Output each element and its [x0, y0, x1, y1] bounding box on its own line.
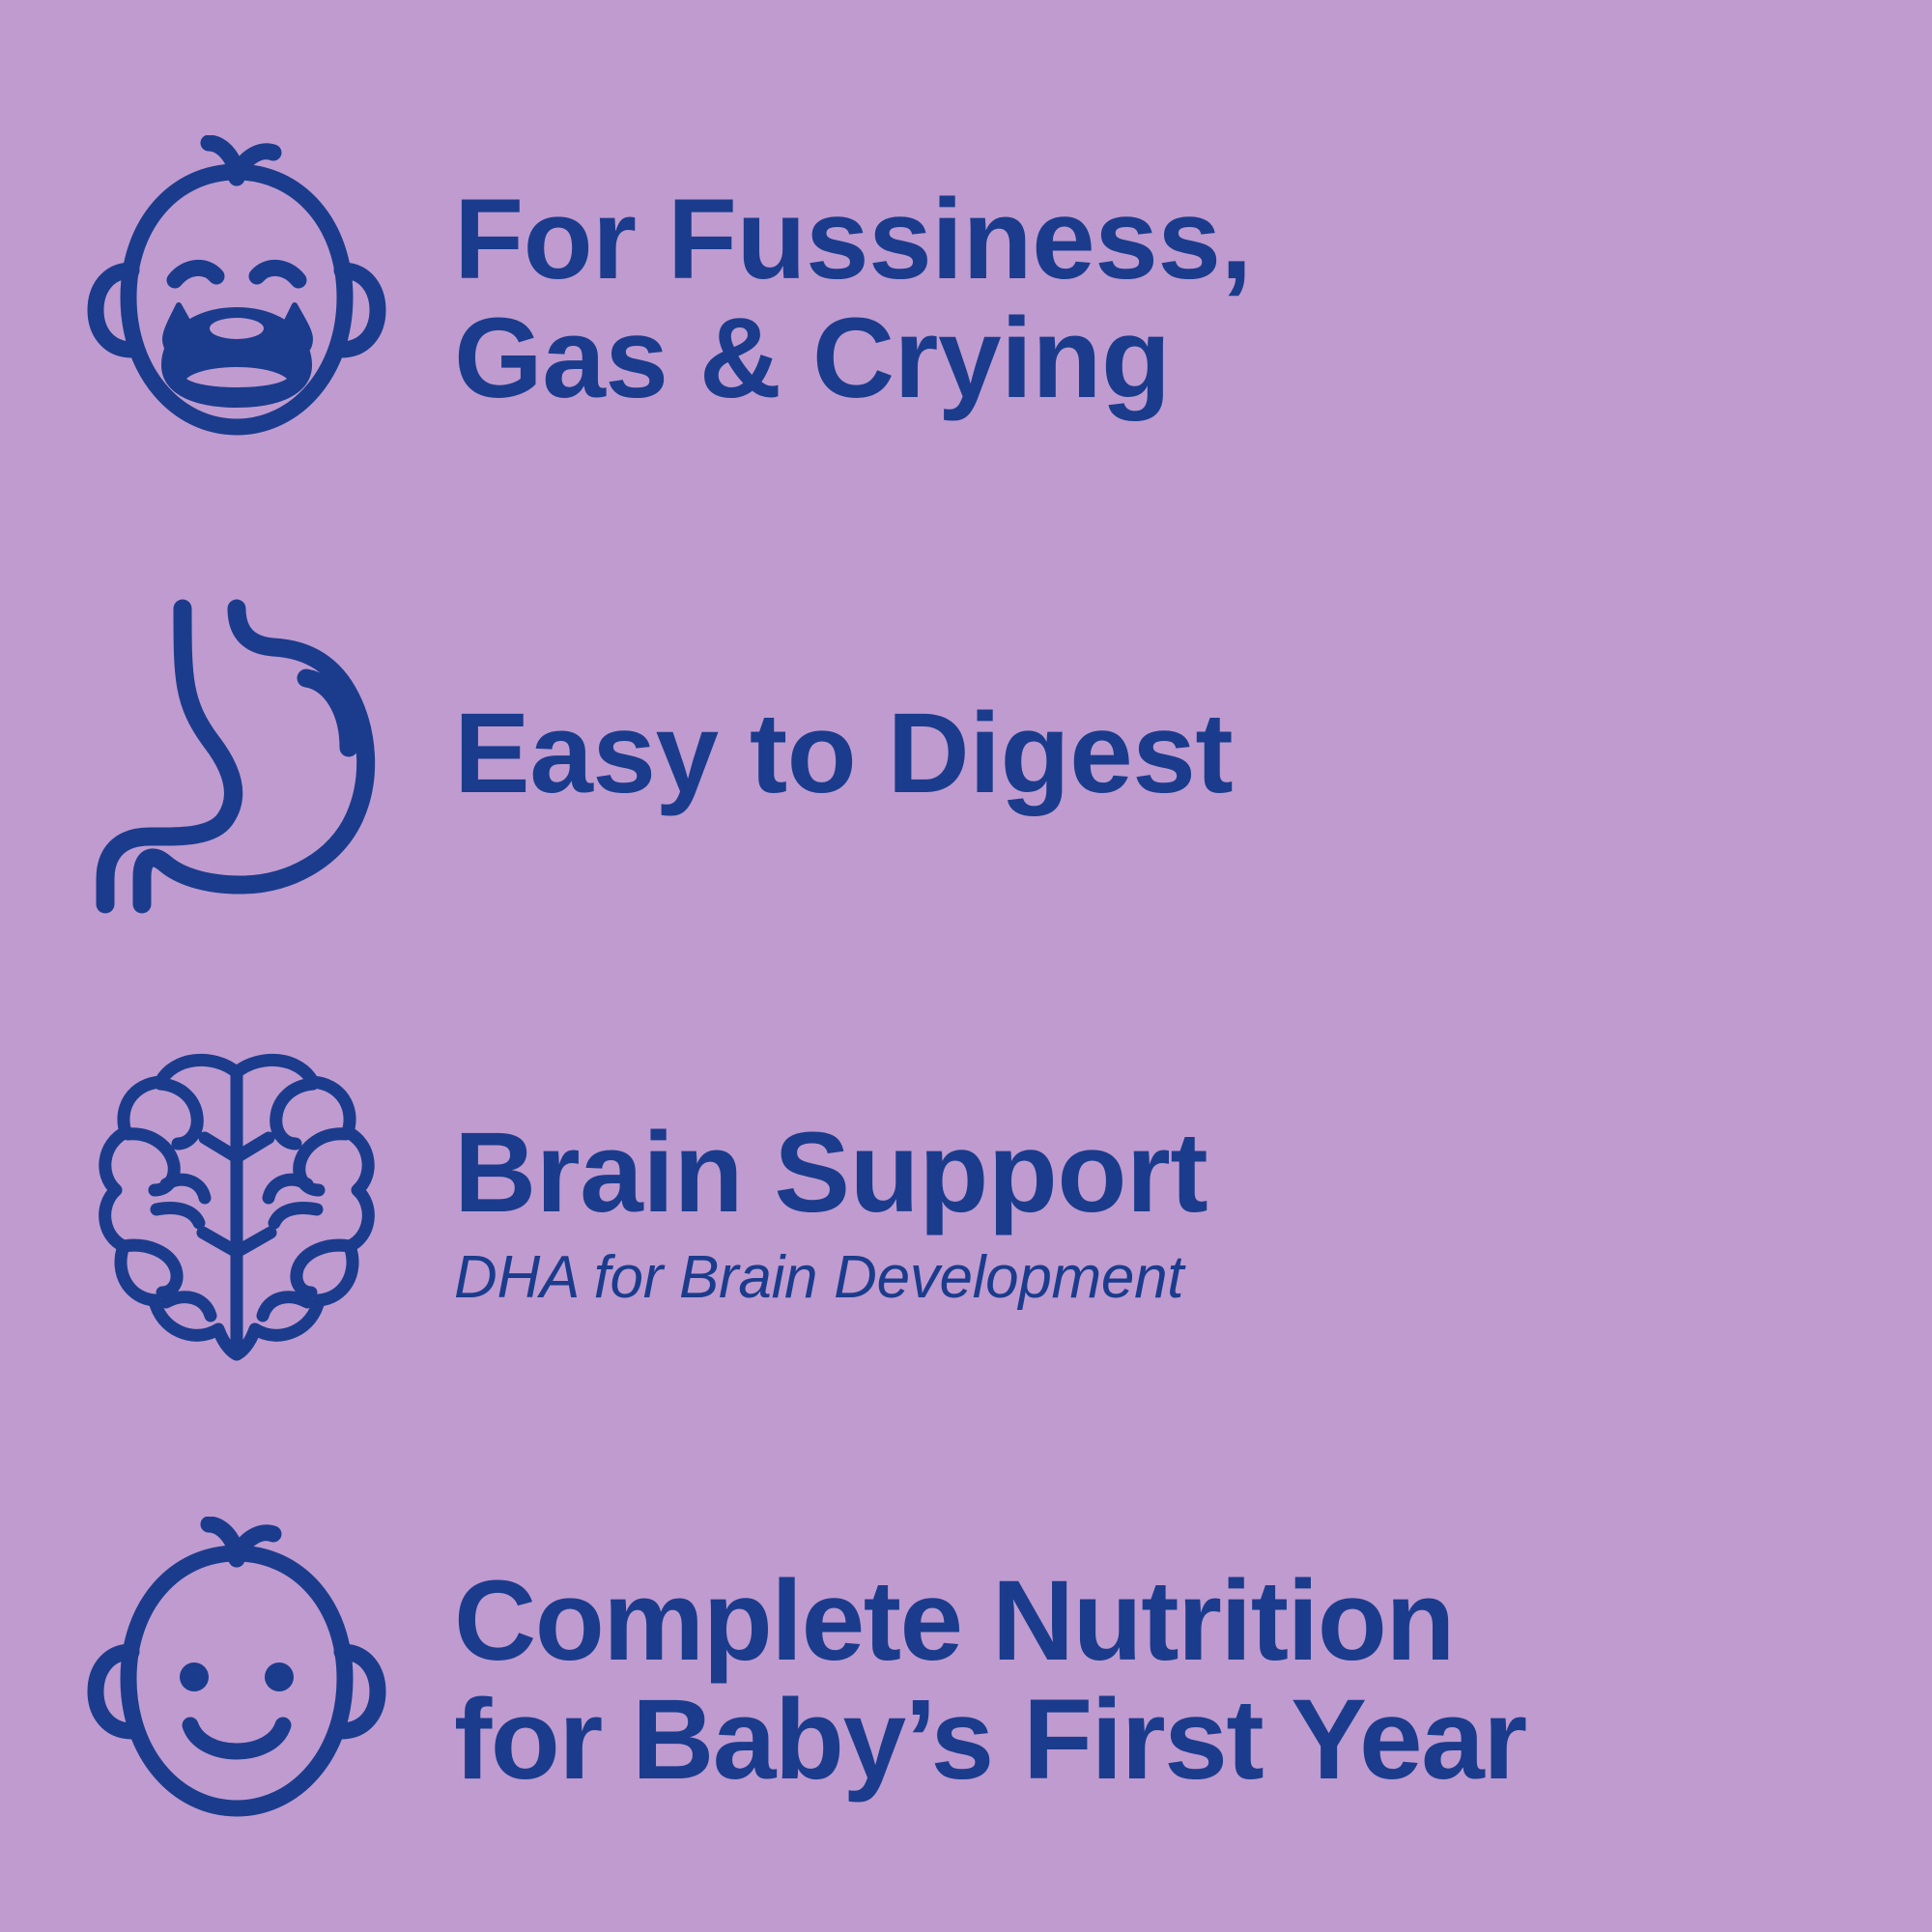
icon-cell-digest: [0, 580, 454, 927]
text-cell-digest: Easy to Digest: [454, 695, 1932, 813]
text-cell-nutrition: Complete Nutrition for Baby’s First Year: [454, 1562, 1932, 1799]
icon-cell-nutrition: [0, 1507, 454, 1855]
feature-headline: Complete Nutrition for Baby’s First Year: [454, 1562, 1932, 1799]
smiling-baby-face-icon: [82, 1517, 391, 1845]
text-cell-fussiness: For Fussiness, Gas & Crying: [454, 181, 1932, 417]
icon-cell-fussiness: [0, 126, 454, 473]
feature-headline: Brain Support: [454, 1114, 1932, 1233]
stomach-icon: [82, 589, 391, 918]
feature-headline: For Fussiness, Gas & Crying: [454, 181, 1932, 417]
text-cell-brain: Brain Support DHA for Brain Development: [454, 1114, 1932, 1312]
crying-baby-face-icon: [82, 135, 391, 464]
feature-row-brain: Brain Support DHA for Brain Development: [0, 1019, 1932, 1406]
benefits-panel: For Fussiness, Gas & Crying Easy to Dige…: [0, 0, 1932, 1932]
feature-headline: Easy to Digest: [454, 695, 1932, 813]
feature-row-digest: Easy to Digest: [0, 580, 1932, 927]
icon-cell-brain: [0, 1019, 454, 1406]
brain-icon: [77, 1043, 396, 1381]
feature-row-nutrition: Complete Nutrition for Baby’s First Year: [0, 1507, 1932, 1855]
feature-row-fussiness: For Fussiness, Gas & Crying: [0, 126, 1932, 473]
feature-subline: DHA for Brain Development: [454, 1245, 1932, 1311]
